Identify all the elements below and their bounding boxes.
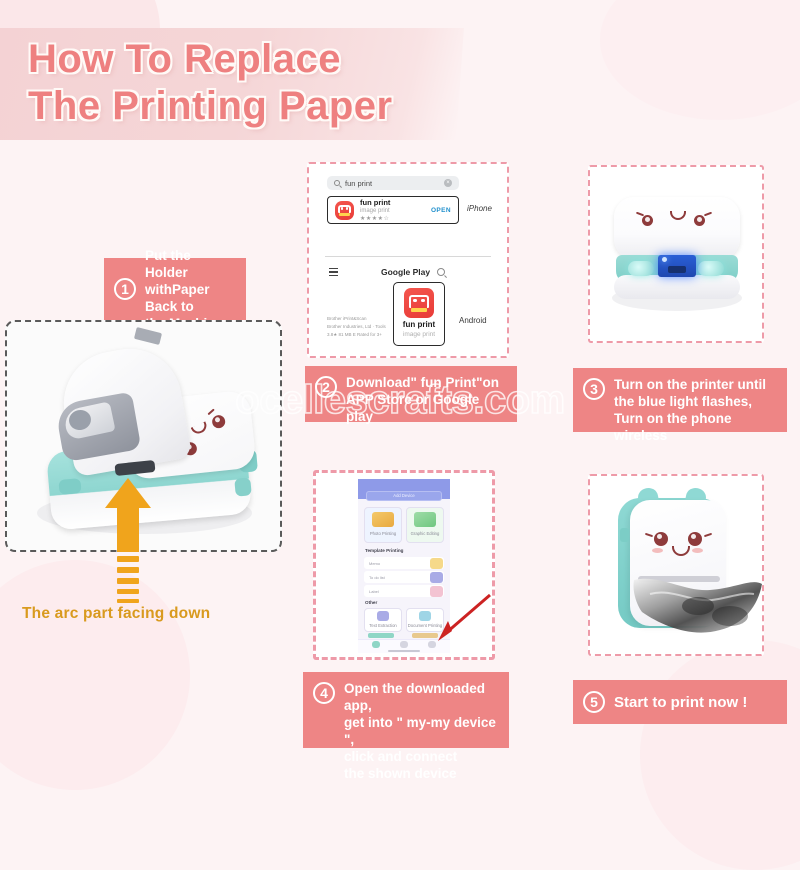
text-extraction-icon [377,611,389,621]
title-line-1: How To Replace [28,37,341,81]
iphone-label: iPhone [467,204,492,213]
menu-icon[interactable] [329,268,338,278]
nav-icon-1[interactable] [372,641,380,648]
face-lash-right-top [704,212,712,217]
printed-photo [632,572,764,644]
red-pointer-arrow-icon [432,591,494,643]
document-printing-icon [419,611,431,621]
title-line-2: The Printing Paper [28,83,498,130]
step-4-line-2: get into " my-my device ", [344,714,499,748]
template-row-2-label: To do list [369,575,385,580]
paper-tab [134,327,162,345]
home-indicator [388,650,420,652]
step-1-photo-frame [5,320,282,552]
template-row-1-swatch [430,558,443,569]
clear-icon[interactable]: × [444,179,452,187]
blue-light-indicator [662,257,667,262]
publisher-line-3: 3.8★ 81 MB E Rated for 3+ [327,332,382,338]
infographic-page: How To Replace The Printing Paper 1 Put … [0,0,800,800]
step-1-arrow-dashes [117,556,139,608]
app-store-mock: fun print × fun print image print ★★★★☆ … [309,164,507,356]
graphic-editing-icon [414,512,436,527]
graphic-editing-label: Graphic Editing [406,531,444,536]
gp-app-name: fun print [403,320,435,329]
step-4-number: 4 [313,682,335,704]
step-3-line-2: the blue light flashes, [614,393,777,410]
face-eye-right-front [688,532,702,546]
google-play-title: Google Play [381,267,430,277]
app-rating: ★★★★☆ [360,215,390,222]
step-4-caption-text: Open the downloaded app, get into " my-m… [344,680,499,782]
printer-kawaii-face-top [636,211,722,237]
add-device-label: Add Device [366,493,442,498]
step-1-caption: 1 Put the Holder withPaper Back to the M… [104,258,246,320]
step-3-photo-frame [588,165,764,343]
template-row-3-label: Label [369,589,379,594]
step-5-number: 5 [583,691,605,713]
printer-front-illustration [590,167,762,341]
decorative-blob-bottom-right [640,640,800,870]
banner-left [368,633,394,638]
printer-side-button [620,528,629,542]
step-1-up-arrow-stem [117,508,139,552]
step-3-caption-text: Turn on the printer until the blue light… [614,376,777,444]
photo-printing-icon [372,512,394,527]
step-4-line-4: the shown device [344,765,499,782]
app-meta: fun print image print ★★★★☆ [360,198,390,222]
decorative-blob-top-right [600,0,800,120]
face-lash-right-front [704,533,712,537]
open-button[interactable]: OPEN [431,207,451,214]
step-4-caption: 4 Open the downloaded app, get into " my… [303,672,509,748]
step-1-caption-text: Put the Holder withPaper Back to the Mac… [145,247,236,332]
photo-printing-label: Photo Printing [364,531,402,536]
step-1-annotation: The arc part facing down [22,605,210,623]
fun-print-app-icon [335,201,354,220]
publisher-line-2: Brother Industries, Ltd · Tools [327,324,386,330]
app-result-card-iphone[interactable]: fun print image print ★★★★☆ OPEN [327,196,459,224]
template-row-2-swatch [430,572,443,583]
step-5-caption: 5 Start to print now ! [573,680,787,724]
step-1-number: 1 [114,278,136,300]
face-lash-right [207,409,214,416]
page-title: How To Replace The Printing Paper [28,36,498,130]
app-subtitle: image print [360,208,390,214]
step-4-line-3: click and connect [344,748,499,765]
decorative-blob-bottom-left [0,560,190,790]
store-divider [325,256,491,257]
android-label: Android [459,316,487,325]
face-lash-left-front [645,533,653,537]
step-1-line-2: withPaper Back to [145,281,236,315]
other-heading: Other [365,600,377,605]
step-3-line-1: Turn on the printer until [614,376,777,393]
google-play-app-card[interactable]: fun print image print [393,282,445,346]
step-5-photo-frame [588,474,764,656]
face-eye-left-front [654,532,668,546]
step-2-line-1: Download" fun Print"on [346,374,507,391]
store-search-input[interactable]: fun print × [327,176,459,190]
step-3-number: 3 [583,378,605,400]
step-5-line-1: Start to print now ! [614,694,747,711]
step-3-caption: 3 Turn on the printer until the blue lig… [573,368,787,432]
step-4-line-1: Open the downloaded app, [344,680,499,714]
step-2-caption: 2 Download" fun Print"on APP Store or Go… [305,366,517,422]
step-2-caption-text: Download" fun Print"on APP Store or Goog… [346,374,507,425]
app-name: fun print [360,198,390,207]
face-eye-left-top [642,215,653,226]
printer-printing-illustration [590,476,762,654]
usb-port [668,266,686,273]
face-blush-right [692,548,703,553]
google-play-search-icon[interactable] [437,268,445,276]
step-2-line-2: APP Store or Google play [346,391,507,425]
printer-open-illustration [7,322,282,552]
printer-button-right [698,261,724,276]
gp-app-subtitle: image print [403,331,435,338]
printer-bottom-shell [614,275,740,299]
step-2-photo-frame: fun print × fun print image print ★★★★☆ … [307,162,509,358]
step-3-line-3: Turn on the phone wireless [614,410,777,444]
step-2-number: 2 [315,376,337,398]
text-extraction-label: Text Extraction [364,623,402,628]
step-4-photo-frame: Add Device Photo Printing Graphic Editin… [313,470,495,660]
face-eye-right-top [694,215,705,226]
printer-kawaii-face-front [646,528,716,562]
face-mouth-top [670,211,686,220]
step-1-up-arrow-head [105,478,151,508]
search-icon [334,180,340,186]
printer-button-left [628,261,654,276]
nav-icon-2[interactable] [400,641,408,648]
template-printing-heading: Template Printing [365,548,403,553]
template-row-1-label: Memo [369,561,380,566]
face-blush-left [652,548,663,553]
face-mouth [191,421,209,436]
face-mouth-front [672,546,690,556]
face-lash-left-top [636,212,644,217]
step-1-line-1: Put the Holder [145,247,236,281]
store-search-value: fun print [345,179,372,188]
publisher-line-1: Brother iPrint&Scan [327,316,367,322]
fun-print-app-icon-android [404,288,434,318]
face-eye-right [212,415,226,429]
step-5-caption-text: Start to print now ! [614,694,747,711]
